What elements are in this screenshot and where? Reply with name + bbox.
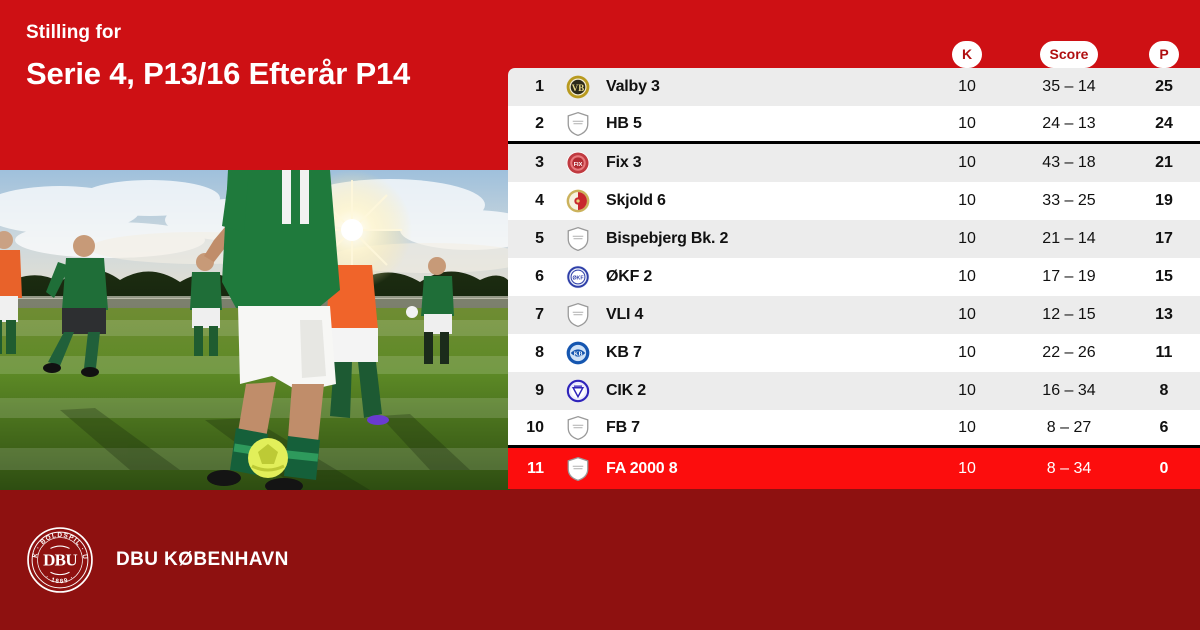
- row-goal-score: 8 – 27: [1010, 419, 1128, 437]
- row-team-name: Fix 3: [600, 154, 924, 172]
- column-header-matches-pill: K: [952, 41, 982, 68]
- row-matches-played: 10: [924, 306, 1010, 324]
- svg-text:ØKF: ØKF: [572, 275, 584, 281]
- row-position: 7: [508, 306, 556, 324]
- row-points: 11: [1128, 344, 1200, 362]
- svg-text:FIX: FIX: [574, 162, 583, 168]
- crest-fix-icon: FIX: [565, 150, 591, 176]
- table-row[interactable]: 8 KBKB 71022 – 2611: [508, 334, 1200, 372]
- row-goal-score: 21 – 14: [1010, 230, 1128, 248]
- row-matches-played: 10: [924, 154, 1010, 172]
- svg-text:DBU: DBU: [43, 550, 77, 569]
- row-points: 0: [1128, 460, 1200, 478]
- table-row[interactable]: 11 FA 2000 8108 – 340: [508, 448, 1200, 489]
- row-team-name: CIK 2: [600, 382, 924, 400]
- row-points: 15: [1128, 268, 1200, 286]
- crest-skjold-icon: [565, 188, 591, 214]
- row-position: 5: [508, 230, 556, 248]
- row-matches-played: 10: [924, 192, 1010, 210]
- svg-text:VB: VB: [572, 83, 584, 93]
- table-row[interactable]: 7 VLI 41012 – 1513: [508, 296, 1200, 334]
- row-goal-score: 35 – 14: [1010, 78, 1128, 96]
- row-points: 25: [1128, 78, 1200, 96]
- headline-block: Stilling for Serie 4, P13/16 Efterår P14: [26, 22, 486, 93]
- football-match-photo: [0, 170, 510, 490]
- row-team-name: Bispebjerg Bk. 2: [600, 230, 924, 248]
- row-team-name: HB 5: [600, 115, 924, 133]
- row-matches-played: 10: [924, 230, 1010, 248]
- crest-placeholder-shield-icon: [565, 226, 591, 252]
- row-matches-played: 10: [924, 419, 1010, 437]
- row-points: 6: [1128, 419, 1200, 437]
- row-points: 19: [1128, 192, 1200, 210]
- row-matches-played: 10: [924, 344, 1010, 362]
- row-position: 9: [508, 382, 556, 400]
- table-row[interactable]: 1 VBValby 31035 – 1425: [508, 68, 1200, 106]
- row-points: 8: [1128, 382, 1200, 400]
- crest-cik-icon: [565, 378, 591, 404]
- row-club-crest: [556, 226, 600, 252]
- row-position: 11: [508, 460, 556, 478]
- row-position: 6: [508, 268, 556, 286]
- row-points: 21: [1128, 154, 1200, 172]
- row-matches-played: 10: [924, 78, 1010, 96]
- row-team-name: FB 7: [600, 419, 924, 437]
- row-club-crest: KB: [556, 340, 600, 366]
- svg-text:KB: KB: [574, 351, 583, 357]
- row-team-name: FA 2000 8: [600, 460, 924, 478]
- table-row[interactable]: 10 FB 7108 – 276: [508, 410, 1200, 448]
- row-club-crest: [556, 415, 600, 441]
- row-points: 24: [1128, 115, 1200, 133]
- row-position: 10: [508, 419, 556, 437]
- table-row[interactable]: 4 Skjold 61033 – 2519: [508, 182, 1200, 220]
- crest-placeholder-shield-icon: [565, 415, 591, 441]
- table-row[interactable]: 2 HB 51024 – 1324: [508, 106, 1200, 144]
- row-points: 17: [1128, 230, 1200, 248]
- footer-org-name: DBU KØBENHAVN: [116, 549, 289, 571]
- row-position: 1: [508, 78, 556, 96]
- row-team-name: Skjold 6: [600, 192, 924, 210]
- row-goal-score: 33 – 25: [1010, 192, 1128, 210]
- dbu-logo-icon: DANSK · BOLDSPIL · UNION · 1889 · DBU: [26, 526, 94, 594]
- row-position: 2: [508, 115, 556, 133]
- row-goal-score: 24 – 13: [1010, 115, 1128, 133]
- row-club-crest: [556, 302, 600, 328]
- row-goal-score: 12 – 15: [1010, 306, 1128, 324]
- crest-valby-icon: VB: [565, 74, 591, 100]
- row-position: 8: [508, 344, 556, 362]
- crest-placeholder-shield-icon: [565, 456, 591, 482]
- row-club-crest: ØKF: [556, 264, 600, 290]
- row-club-crest: [556, 188, 600, 214]
- table-row[interactable]: 6 ØKFØKF 21017 – 1915: [508, 258, 1200, 296]
- row-goal-score: 16 – 34: [1010, 382, 1128, 400]
- row-matches-played: 10: [924, 460, 1010, 478]
- photo-illustration: [0, 170, 510, 490]
- standings-table: 1 VBValby 31035 – 14252 HB 51024 – 13243…: [508, 68, 1200, 489]
- crest-kb-icon: KB: [565, 340, 591, 366]
- column-header-points-pill: P: [1149, 41, 1178, 68]
- page-title: Serie 4, P13/16 Efterår P14: [26, 55, 486, 93]
- row-matches-played: 10: [924, 268, 1010, 286]
- row-goal-score: 22 – 26: [1010, 344, 1128, 362]
- row-club-crest: FIX: [556, 150, 600, 176]
- crest-placeholder-shield-icon: [565, 302, 591, 328]
- row-position: 4: [508, 192, 556, 210]
- row-goal-score: 17 – 19: [1010, 268, 1128, 286]
- row-team-name: VLI 4: [600, 306, 924, 324]
- headline-kicker: Stilling for: [26, 22, 486, 45]
- row-goal-score: 43 – 18: [1010, 154, 1128, 172]
- row-club-crest: [556, 111, 600, 137]
- row-team-name: Valby 3: [600, 78, 924, 96]
- row-matches-played: 10: [924, 115, 1010, 133]
- row-points: 13: [1128, 306, 1200, 324]
- crest-placeholder-shield-icon: [565, 111, 591, 137]
- row-club-crest: [556, 456, 600, 482]
- column-header-score-pill: Score: [1040, 41, 1099, 68]
- footer-bar: DANSK · BOLDSPIL · UNION · 1889 · DBU DB…: [0, 490, 1200, 630]
- row-team-name: KB 7: [600, 344, 924, 362]
- table-row[interactable]: 9 CIK 21016 – 348: [508, 372, 1200, 410]
- svg-text:· 1889 ·: · 1889 ·: [44, 574, 76, 585]
- row-position: 3: [508, 154, 556, 172]
- row-club-crest: VB: [556, 74, 600, 100]
- row-goal-score: 8 – 34: [1010, 460, 1128, 478]
- row-club-crest: [556, 378, 600, 404]
- table-row[interactable]: 5 Bispebjerg Bk. 21021 – 1417: [508, 220, 1200, 258]
- row-matches-played: 10: [924, 382, 1010, 400]
- row-team-name: ØKF 2: [600, 268, 924, 286]
- table-row[interactable]: 3 FIXFix 31043 – 1821: [508, 144, 1200, 182]
- crest-oekf-icon: ØKF: [565, 264, 591, 290]
